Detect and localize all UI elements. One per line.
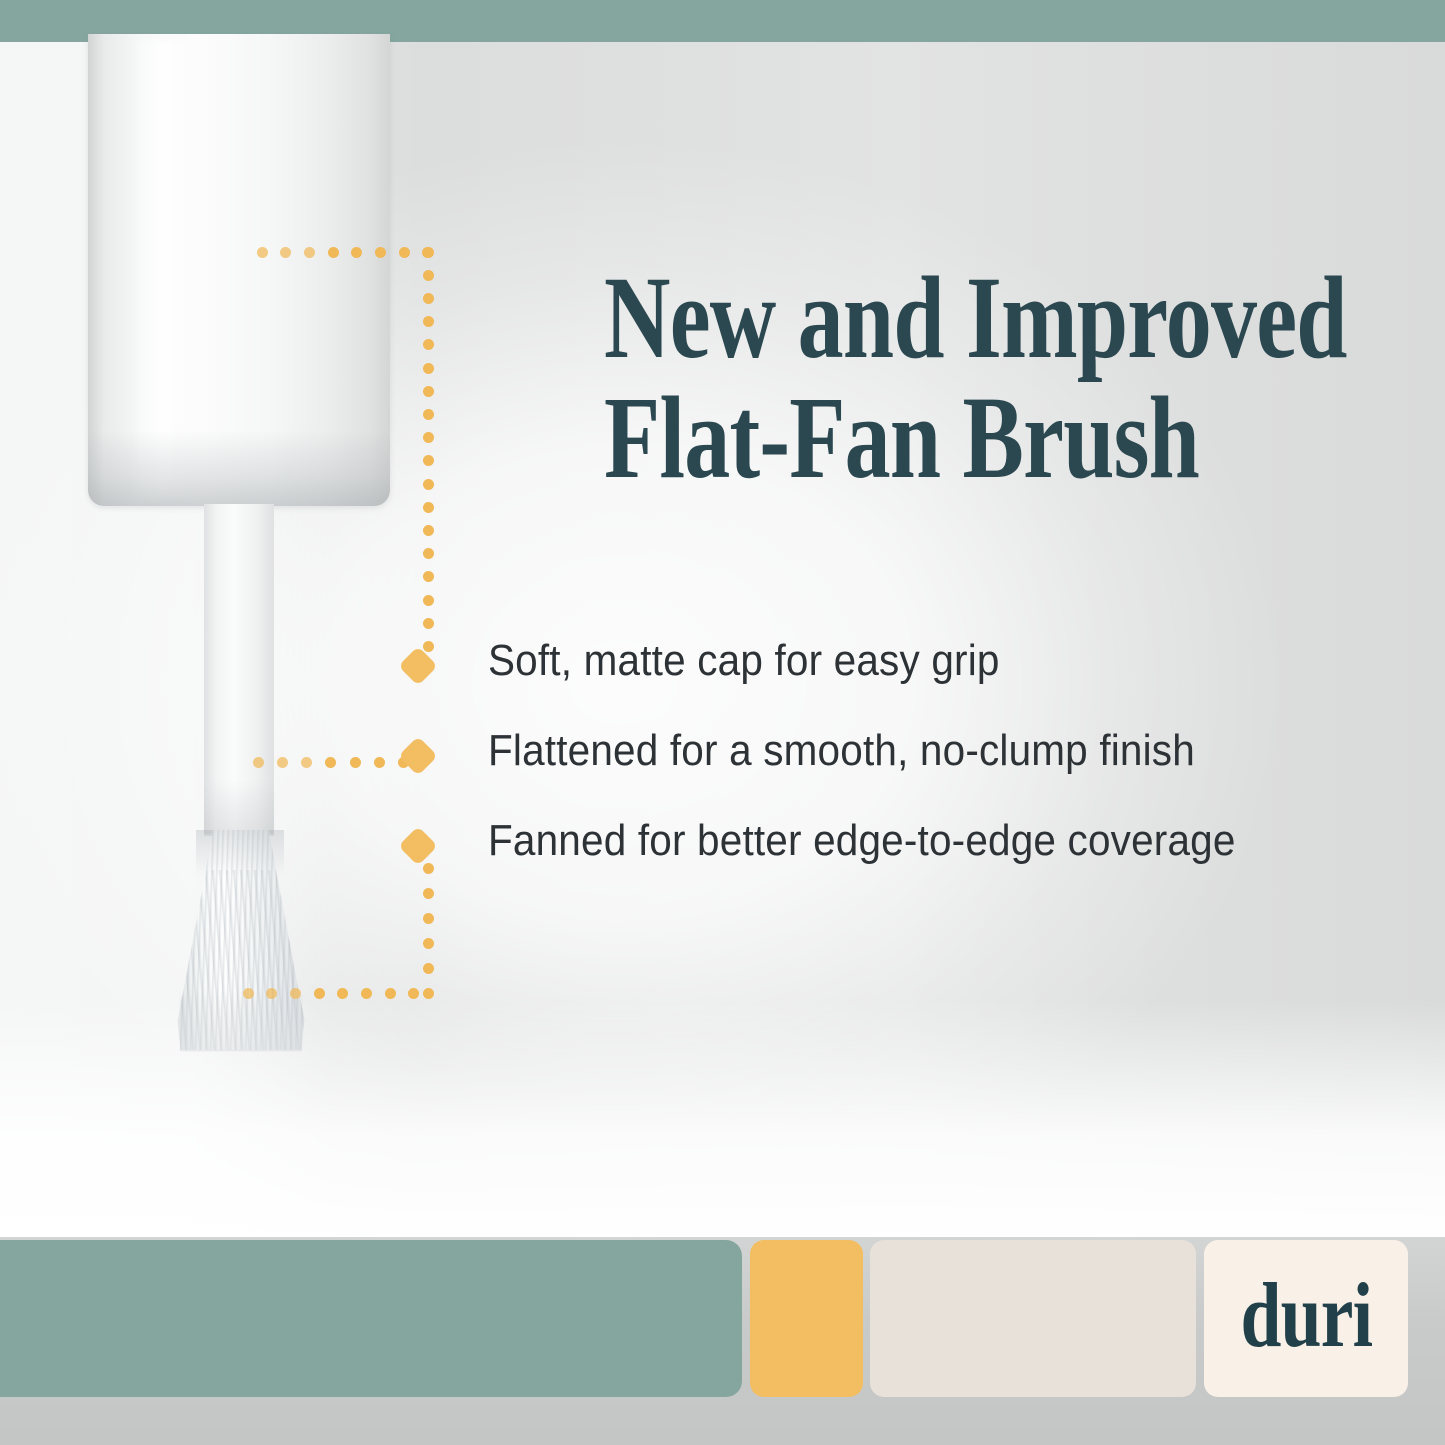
connector-dot [423, 571, 434, 582]
connector-dot [423, 247, 434, 258]
feature-list: Soft, matte cap for easy grip Flattened … [404, 640, 1394, 910]
brush-cap-shadow [88, 430, 390, 506]
connector-dot [408, 988, 419, 999]
connector-dot [243, 988, 254, 999]
feature-label-2: Flattened for a smooth, no-clump finish [488, 727, 1195, 775]
brand-swatch-beige [870, 1240, 1196, 1397]
feature-label-3: Fanned for better edge-to-edge coverage [488, 817, 1236, 865]
diamond-bullet-icon [398, 646, 438, 686]
feature-item-1: Soft, matte cap for easy grip [404, 640, 1394, 730]
connector-dot [257, 247, 268, 258]
connector-dot [423, 455, 434, 466]
connector-dot [337, 988, 348, 999]
connector-dot [350, 757, 361, 768]
feature-label-1: Soft, matte cap for easy grip [488, 637, 1000, 685]
connector-dot [423, 548, 434, 559]
connector-dot [423, 618, 434, 629]
connector-dot [304, 247, 315, 258]
connector-dot [423, 595, 434, 606]
feature-item-2: Flattened for a smooth, no-clump finish [404, 730, 1394, 820]
brand-logo-tile: duri [1204, 1240, 1408, 1397]
brand-swatch-gold [750, 1240, 863, 1397]
product-brush-image [0, 0, 520, 1100]
connector-dot [328, 247, 339, 258]
brand-swatch-sage [0, 1240, 742, 1397]
headline-line-2: Flat-Fan Brush [604, 378, 1197, 498]
connector-dot [423, 502, 434, 513]
connector-dot [399, 247, 410, 258]
connector-dot [385, 988, 396, 999]
brush-bristle-top-shadow [196, 830, 284, 876]
connector-dot [423, 988, 434, 999]
connector-dot [361, 988, 372, 999]
connector-dot [253, 757, 264, 768]
diamond-bullet-icon [398, 826, 438, 866]
connector-dot [423, 293, 434, 304]
connector-dot [423, 938, 434, 949]
connector-dot [375, 247, 386, 258]
connector-dot [423, 963, 434, 974]
brand-logo-text: duri [1240, 1269, 1372, 1361]
connector-dot [423, 409, 434, 420]
connector-dot [351, 247, 362, 258]
connector-dot [301, 757, 312, 768]
diamond-bullet-icon [398, 736, 438, 776]
connector-dot [325, 757, 336, 768]
connector-dot [423, 363, 434, 374]
background-bottom-fade [0, 1000, 1445, 1245]
connector-dot [423, 316, 434, 327]
connector-dot [290, 988, 301, 999]
connector-dot [423, 479, 434, 490]
infographic-canvas: New and Improved Flat-Fan Brush Soft, ma… [0, 0, 1445, 1445]
connector-dot [423, 270, 434, 281]
connector-dot [423, 386, 434, 397]
page-title: New and Improved Flat-Fan Brush [604, 258, 1197, 499]
connector-dot [314, 988, 325, 999]
connector-dot [423, 525, 434, 536]
connector-dot [423, 339, 434, 350]
connector-dot [423, 913, 434, 924]
connector-dot [277, 757, 288, 768]
connector-dot [423, 432, 434, 443]
headline-line-1: New and Improved [604, 252, 1347, 383]
feature-item-3: Fanned for better edge-to-edge coverage [404, 820, 1394, 910]
connector-dot [280, 247, 291, 258]
connector-dot [266, 988, 277, 999]
brush-stem-shadow [204, 780, 274, 836]
connector-dot [374, 757, 385, 768]
